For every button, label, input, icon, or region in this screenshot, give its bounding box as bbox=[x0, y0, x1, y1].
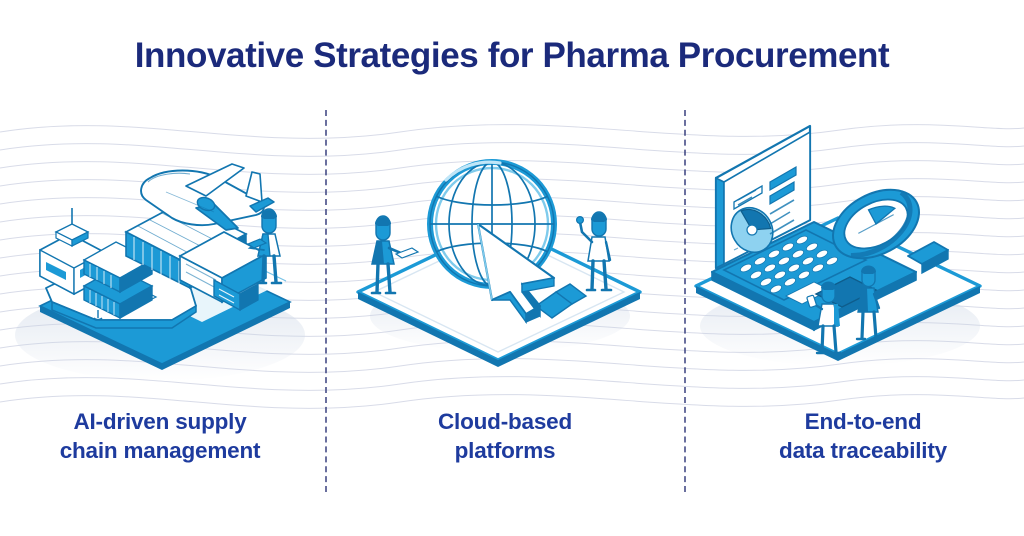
column-cloud-based-platforms: Cloud-based platforms bbox=[340, 120, 670, 500]
infographic-canvas: Innovative Strategies for Pharma Procure… bbox=[0, 0, 1024, 536]
column-end-to-end-data-traceability: End-to-end data traceability bbox=[690, 120, 1020, 500]
caption-column-2: Cloud-based platforms bbox=[340, 408, 670, 466]
column-ai-driven-supply-chain: AI-driven supply chain management bbox=[0, 120, 330, 500]
caption-line-1: Cloud-based bbox=[340, 408, 670, 437]
column-divider-2 bbox=[684, 110, 686, 492]
logistics-scene-illustration bbox=[0, 120, 330, 390]
caption-line-1: End-to-end bbox=[698, 408, 1024, 437]
caption-column-3: End-to-end data traceability bbox=[698, 408, 1024, 466]
caption-line-1: AI-driven supply bbox=[0, 408, 325, 437]
caption-column-1: AI-driven supply chain management bbox=[0, 408, 325, 466]
caption-line-2: platforms bbox=[340, 437, 670, 466]
laptop-analytics-scene-illustration bbox=[690, 120, 1020, 390]
caption-line-2: data traceability bbox=[698, 437, 1024, 466]
page-title: Innovative Strategies for Pharma Procure… bbox=[0, 36, 1024, 75]
globe-cursor-scene-illustration bbox=[340, 120, 670, 390]
caption-line-2: chain management bbox=[0, 437, 325, 466]
